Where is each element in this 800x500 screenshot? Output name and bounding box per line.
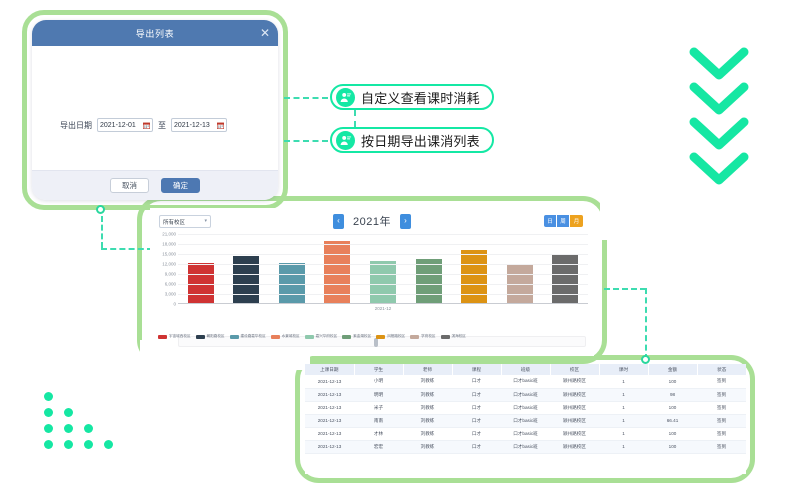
table-row[interactable]: 2021-12-13才林刘教练口才口才basic班颍州路校区1100签到 <box>305 427 746 440</box>
legend-item[interactable]: 学府校区 <box>410 334 435 339</box>
gridline <box>178 254 588 255</box>
legend-label: 凤栖路校区 <box>387 334 405 339</box>
table-header-cell[interactable]: 学生 <box>354 364 403 375</box>
table-cell: 签到 <box>697 375 746 388</box>
legend-label: 嘉兴华府校区 <box>316 334 338 339</box>
table-cell: 口才basic班 <box>501 388 550 401</box>
table-cell: 2021-12-13 <box>305 388 354 401</box>
confirm-button[interactable]: 确定 <box>161 178 200 194</box>
table-header-cell[interactable]: 老师 <box>403 364 452 375</box>
legend-label: 水景城校区 <box>282 334 300 339</box>
dialog-title: 导出列表 <box>136 27 174 40</box>
frame-gap-mask <box>600 200 640 240</box>
range-button-0[interactable]: 日 <box>544 215 557 227</box>
dialog-footer: 取消 确定 <box>32 170 278 200</box>
scrollbar-thumb[interactable] <box>374 338 378 347</box>
legend-swatch <box>342 335 351 339</box>
table-cell: 口才 <box>452 388 501 401</box>
table-cell: 口才 <box>452 427 501 440</box>
table-cell: 口才 <box>452 440 501 453</box>
table-cell: 签到 <box>697 401 746 414</box>
legend-item[interactable]: 朝阳路校区 <box>196 334 225 339</box>
legend-swatch <box>441 335 450 339</box>
table-cell: 刘教练 <box>403 414 452 427</box>
chart-bar[interactable] <box>370 261 396 303</box>
table-header-row: 上课日期学生老师课程班级校区课时金额状态 <box>305 364 746 375</box>
table-cell: 2021-12-13 <box>305 440 354 453</box>
callout-pill-custom-view[interactable]: 自定义查看课时消耗 <box>330 84 494 110</box>
chart-bar[interactable] <box>552 254 578 303</box>
table-cell: 颍州路校区 <box>550 375 599 388</box>
close-icon[interactable]: ✕ <box>260 27 270 39</box>
table-cell: 签到 <box>697 388 746 401</box>
person-check-icon <box>336 131 355 150</box>
table-cell: 口才 <box>452 401 501 414</box>
callout-label: 按日期导出课消列表 <box>361 131 480 150</box>
screenshot-root: 导出列表 ✕ 导出日期 2021-12-01 <box>0 0 800 500</box>
table-row[interactable]: 2021-12-13米子刘教练口才口才basic班颍州路校区1100签到 <box>305 401 746 414</box>
chevron-down-icon: ▾ <box>204 219 207 224</box>
connector-dash-between-callouts <box>354 110 356 127</box>
campus-select[interactable]: 所有校区 ▾ <box>159 215 211 228</box>
legend-swatch <box>271 335 280 339</box>
gridline <box>178 274 588 275</box>
legend-label: 紫金湖校区 <box>353 334 371 339</box>
table-cell: 1 <box>599 388 648 401</box>
dot-staircase-decoration <box>44 392 120 450</box>
table-cell: 颍州路校区 <box>550 414 599 427</box>
table-row[interactable]: 2021-12-13明明刘教练口才口才basic班颍州路校区198签到 <box>305 388 746 401</box>
year-label: 2021年 <box>353 213 391 229</box>
gridline <box>178 244 588 245</box>
course-consumption-chart-panel: 所有校区 ▾ ‹ 2021年 › 日周月 03,0006,0009,00012,… <box>150 208 594 356</box>
legend-swatch <box>158 335 167 339</box>
table-cell: 颍州路校区 <box>550 388 599 401</box>
dialog-titlebar: 导出列表 ✕ <box>32 20 278 46</box>
table-cell: 1 <box>599 414 648 427</box>
table-cell: 南南 <box>354 414 403 427</box>
table-header-cell[interactable]: 上课日期 <box>305 364 354 375</box>
table-cell: 刘教练 <box>403 427 452 440</box>
calendar-icon <box>217 122 224 129</box>
table-cell: 2021-12-13 <box>305 414 354 427</box>
callout-label: 自定义查看课时消耗 <box>361 88 480 107</box>
legend-swatch <box>230 335 239 339</box>
table-cell: 颍州路校区 <box>550 401 599 414</box>
table-header-cell[interactable]: 校区 <box>550 364 599 375</box>
legend-swatch <box>376 335 385 339</box>
table-cell: 口才basic班 <box>501 414 550 427</box>
callout-pill-export-by-date[interactable]: 按日期导出课消列表 <box>330 127 494 153</box>
table-cell: 颍州路校区 <box>550 427 599 440</box>
legend-item[interactable]: 嘉兴华府校区 <box>305 334 338 339</box>
connector-dash-to-table <box>645 288 647 360</box>
year-navigator: ‹ 2021年 › <box>333 213 411 229</box>
table-cell: 签到 <box>697 440 746 453</box>
table-cell: 刘教练 <box>403 375 452 388</box>
legend-item[interactable]: 滨海校区 <box>441 334 466 339</box>
table-cell: 1 <box>599 440 648 453</box>
table-cell: 66.41 <box>648 414 697 427</box>
legend-item[interactable]: 紫金湖校区 <box>342 334 371 339</box>
person-check-icon <box>336 88 355 107</box>
date-range-row: 导出日期 2021-12-01 至 2021-12-13 <box>60 118 227 132</box>
legend-label: 学府校区 <box>421 334 435 339</box>
table-cell: 口才basic班 <box>501 375 550 388</box>
date-to-value: 2021-12-13 <box>174 122 215 129</box>
chart-legend: 宇宙城西校区朝阳路校区建设路嘉华校区水景城校区嘉兴华府校区紫金湖校区凤栖路校区学… <box>158 334 588 339</box>
date-range-label: 导出日期 <box>60 120 92 131</box>
y-axis-tick: 3,000 <box>165 292 176 297</box>
connector-dash-to-chart <box>101 248 153 250</box>
connector-dash-callout-1 <box>284 97 328 99</box>
table-cell: 1 <box>599 427 648 440</box>
chart-grid <box>178 234 588 304</box>
connector-dash-chart-to-table <box>604 288 646 290</box>
table-cell: 签到 <box>697 414 746 427</box>
table-row[interactable]: 2021-12-13宏宏刘教练口才口才basic班颍州路校区1100签到 <box>305 440 746 453</box>
table-cell: 口才basic班 <box>501 401 550 414</box>
y-axis-tick: 6,000 <box>165 282 176 287</box>
gridline <box>178 234 588 235</box>
data-table: 上课日期学生老师课程班级校区课时金额状态 2021-12-13小明刘教练口才口才… <box>305 364 746 454</box>
table-cell: 才林 <box>354 427 403 440</box>
legend-swatch <box>410 335 419 339</box>
y-axis-tick: 21,000 <box>162 232 176 237</box>
table-cell: 米子 <box>354 401 403 414</box>
legend-swatch <box>196 335 205 339</box>
table-row[interactable]: 2021-12-13南南刘教练口才口才basic班颍州路校区166.41签到 <box>305 414 746 427</box>
chart-plot-area: 03,0006,0009,00012,00015,00018,00021,000… <box>150 234 594 316</box>
table-body: 2021-12-13小明刘教练口才口才basic班颍州路校区1100签到2021… <box>305 375 746 453</box>
chevron-down-stack-icon <box>686 44 752 186</box>
connector-dash-callout-2 <box>284 140 328 142</box>
table-cell: 2021-12-13 <box>305 427 354 440</box>
gridline <box>178 264 588 265</box>
connector-dash-dialog-to-chart <box>101 216 103 248</box>
dialog-body: 导出日期 2021-12-01 至 2021-12-13 <box>32 46 278 170</box>
table-cell: 98 <box>648 388 697 401</box>
range-button-1[interactable]: 周 <box>557 215 570 227</box>
table-cell: 100 <box>648 440 697 453</box>
legend-item[interactable]: 水景城校区 <box>271 334 300 339</box>
course-consumption-table: 上课日期学生老师课程班级校区课时金额状态 2021-12-13小明刘教练口才口才… <box>305 364 746 474</box>
date-from-input[interactable]: 2021-12-01 <box>97 118 153 132</box>
date-range-separator: 至 <box>158 120 166 131</box>
table-header-cell[interactable]: 班级 <box>501 364 550 375</box>
table-cell: 颍州路校区 <box>550 440 599 453</box>
table-cell: 口才 <box>452 414 501 427</box>
y-axis-tick: 0 <box>173 302 176 307</box>
table-cell: 口才basic班 <box>501 440 550 453</box>
table-cell: 100 <box>648 375 697 388</box>
legend-label: 朝阳路校区 <box>207 334 225 339</box>
table-header-cell[interactable]: 课程 <box>452 364 501 375</box>
connector-node-dialog <box>96 205 105 214</box>
y-axis: 03,0006,0009,00012,00015,00018,00021,000 <box>150 234 178 304</box>
legend-item[interactable]: 建设路嘉华校区 <box>230 334 266 339</box>
legend-item[interactable]: 凤栖路校区 <box>376 334 405 339</box>
y-axis-tick: 18,000 <box>162 242 176 247</box>
year-prev-button[interactable]: ‹ <box>333 214 344 229</box>
legend-swatch <box>305 335 314 339</box>
table-cell: 明明 <box>354 388 403 401</box>
table-cell: 口才basic班 <box>501 427 550 440</box>
calendar-icon <box>143 122 150 129</box>
table-cell: 2021-12-13 <box>305 401 354 414</box>
table-header-cell[interactable]: 课时 <box>599 364 648 375</box>
date-from-value: 2021-12-01 <box>100 122 141 129</box>
y-axis-tick: 12,000 <box>162 262 176 267</box>
gridline <box>178 284 588 285</box>
table-cell: 100 <box>648 427 697 440</box>
cancel-button[interactable]: 取消 <box>110 178 149 194</box>
table-header-cell[interactable]: 金额 <box>648 364 697 375</box>
x-axis-label: 2021-12 <box>178 306 588 311</box>
table-cell: 2021-12-13 <box>305 375 354 388</box>
table-cell: 刘教练 <box>403 440 452 453</box>
export-dialog: 导出列表 ✕ 导出日期 2021-12-01 <box>32 20 278 200</box>
legend-label: 宇宙城西校区 <box>169 334 191 339</box>
gridline <box>178 294 588 295</box>
table-cell: 刘教练 <box>403 388 452 401</box>
y-axis-tick: 15,000 <box>162 252 176 257</box>
chart-bar[interactable] <box>416 259 442 303</box>
campus-select-value: 所有校区 <box>163 218 204 226</box>
legend-label: 滨海校区 <box>452 334 466 339</box>
frame-gap-mask <box>289 14 349 74</box>
table-cell: 刘教练 <box>403 401 452 414</box>
year-next-button[interactable]: › <box>400 214 411 229</box>
chart-toolbar: 所有校区 ▾ ‹ 2021年 › 日周月 <box>150 208 594 234</box>
legend-item[interactable]: 宇宙城西校区 <box>158 334 191 339</box>
range-button-2[interactable]: 月 <box>570 215 583 227</box>
table-cell: 宏宏 <box>354 440 403 453</box>
range-toggle-group: 日周月 <box>544 215 583 227</box>
y-axis-tick: 9,000 <box>165 272 176 277</box>
table-cell: 签到 <box>697 427 746 440</box>
table-cell: 1 <box>599 401 648 414</box>
date-to-input[interactable]: 2021-12-13 <box>171 118 227 132</box>
table-cell: 100 <box>648 401 697 414</box>
chart-bar[interactable] <box>233 256 259 303</box>
legend-label: 建设路嘉华校区 <box>241 334 266 339</box>
connector-node-table <box>641 355 650 364</box>
table-cell: 口才 <box>452 375 501 388</box>
table-cell: 小明 <box>354 375 403 388</box>
table-row[interactable]: 2021-12-13小明刘教练口才口才basic班颍州路校区1100签到 <box>305 375 746 388</box>
table-cell: 1 <box>599 375 648 388</box>
chart-bar[interactable] <box>461 250 487 303</box>
table-header-cell[interactable]: 状态 <box>697 364 746 375</box>
